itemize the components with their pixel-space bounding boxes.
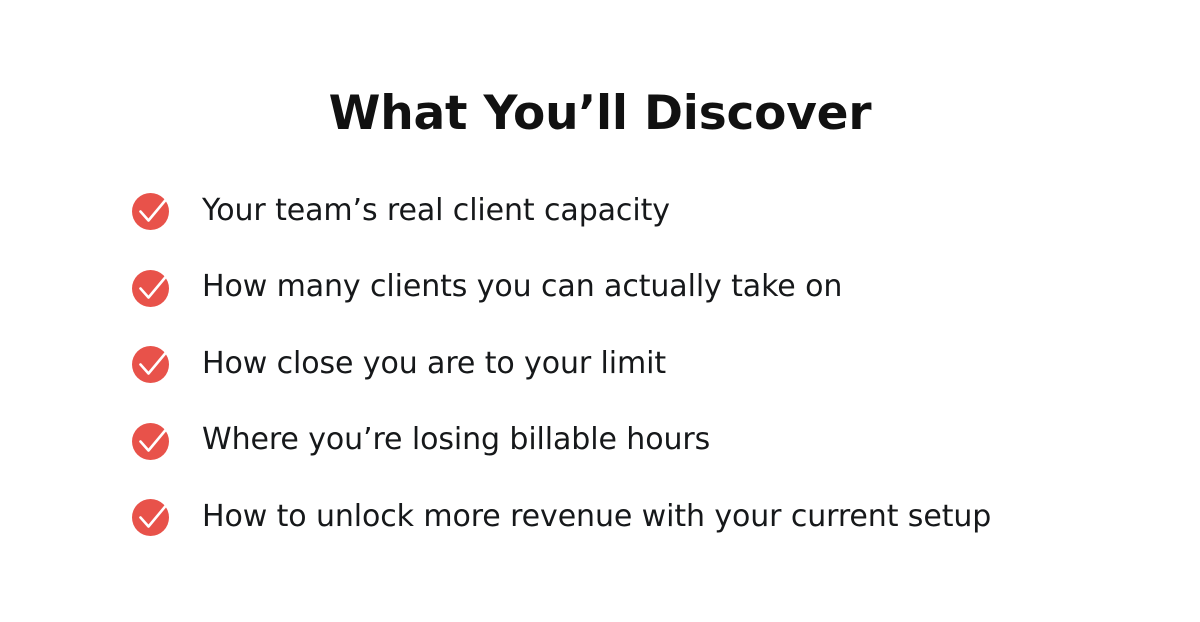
- check-circle-icon: [128, 492, 176, 540]
- list-item: How close you are to your limit: [128, 339, 1128, 387]
- list-item-label: How close you are to your limit: [202, 347, 666, 380]
- check-circle-icon: [128, 339, 176, 387]
- list-item: Where you’re losing billable hours: [128, 416, 1128, 464]
- slide-canvas: What You’ll Discover Your team’s real cl…: [0, 0, 1200, 622]
- check-circle-icon: [128, 263, 176, 311]
- check-circle-icon: [128, 416, 176, 464]
- list-item: How many clients you can actually take o…: [128, 263, 1128, 311]
- check-circle-icon: [128, 186, 176, 234]
- list-item-label: Your team’s real client capacity: [202, 194, 670, 227]
- page-title: What You’ll Discover: [0, 85, 1200, 142]
- checklist: Your team’s real client capacity How man…: [128, 186, 1128, 540]
- list-item: How to unlock more revenue with your cur…: [128, 492, 1128, 540]
- list-item-label: How many clients you can actually take o…: [202, 270, 842, 303]
- list-item-label: How to unlock more revenue with your cur…: [202, 500, 991, 533]
- list-item-label: Where you’re losing billable hours: [202, 423, 710, 456]
- list-item: Your team’s real client capacity: [128, 186, 1128, 234]
